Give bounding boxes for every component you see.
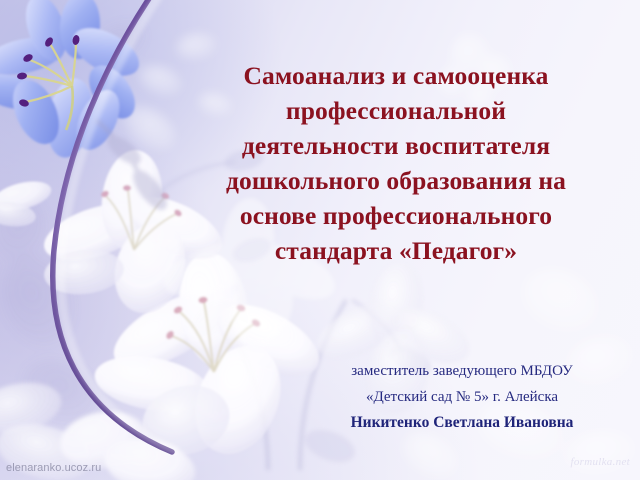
white-lily-bud xyxy=(0,176,54,229)
title-line-1: Самоанализ и самооценка xyxy=(168,58,624,93)
watermark-bottom-right: formulka.net xyxy=(570,456,630,468)
presenter-info: заместитель заведующего МБДОУ «Детский с… xyxy=(300,358,624,436)
slide-title: Самоанализ и самооценка профессиональной… xyxy=(168,58,624,268)
watermark-bottom-left: elenaranko.ucoz.ru xyxy=(6,462,101,474)
title-line-6: стандарта «Педагог» xyxy=(168,233,624,268)
blue-lily-flower xyxy=(0,0,173,215)
presenter-name: Никитенко Светлана Ивановна xyxy=(300,410,624,436)
purple-swoosh-curve xyxy=(53,0,172,452)
title-line-4: дошкольного образования на xyxy=(168,163,624,198)
presenter-position: заместитель заведующего МБДОУ xyxy=(300,358,624,384)
title-line-2: профессиональной xyxy=(168,93,624,128)
white-lily-center xyxy=(90,248,330,467)
title-line-3: деятельности воспитателя xyxy=(168,128,624,163)
title-line-5: основе профессионального xyxy=(168,198,624,233)
presentation-slide: Самоанализ и самооценка профессиональной… xyxy=(0,0,640,480)
presenter-institution: «Детский сад № 5» г. Алейска xyxy=(300,384,624,410)
